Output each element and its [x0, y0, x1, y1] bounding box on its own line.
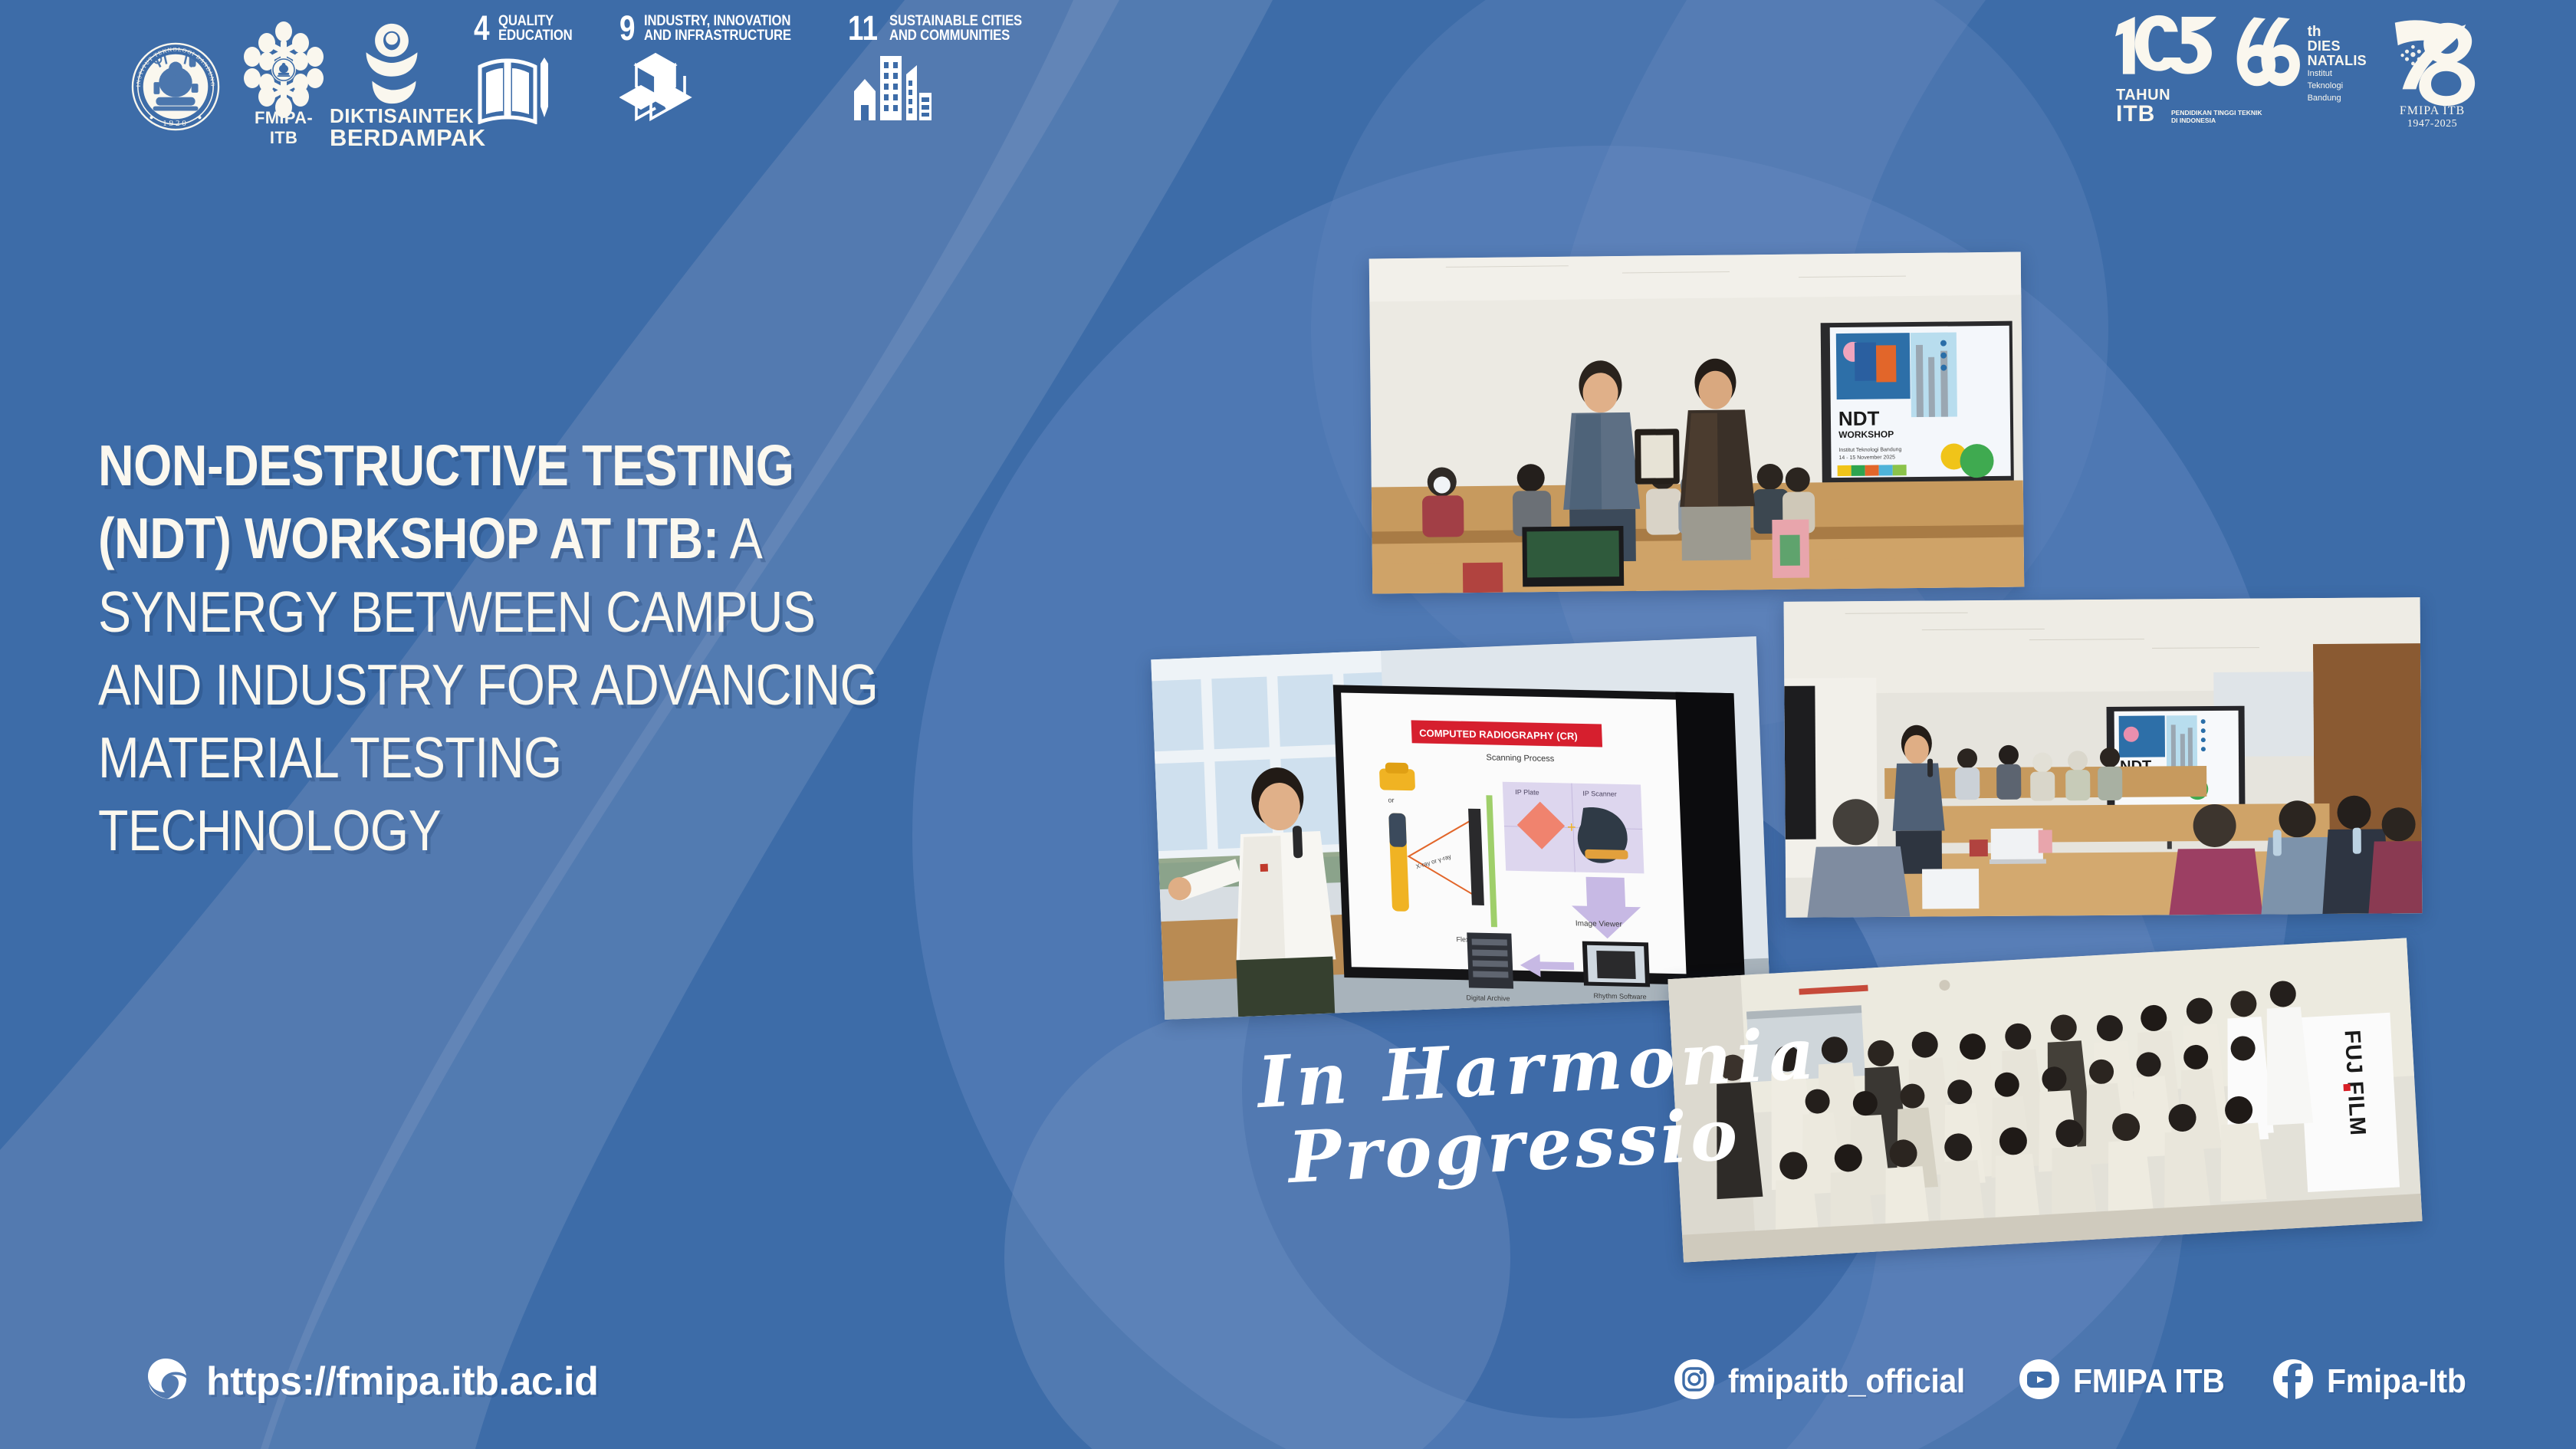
social-facebook[interactable]: Fmipa-Itb: [2272, 1358, 2476, 1405]
youtube-handle: FMIPA ITB: [2073, 1362, 2225, 1401]
105-caption: TAHUN ITB: [2116, 87, 2170, 126]
sdg-11-line2: AND COMMUNITIES: [889, 28, 1022, 43]
svg-text:or: or: [1388, 797, 1394, 804]
sdg-4-number: 4: [474, 14, 490, 43]
66-institute-label: Institut: [2308, 69, 2367, 80]
browser-icon: [142, 1355, 189, 1407]
diktisaintek-line1: DIKTISAINTEK: [330, 106, 465, 126]
svg-text:+: +: [1567, 819, 1577, 836]
photo-plaque-presentation: NDT WORKSHOP Institut Teknologi Bandung …: [1369, 252, 2025, 594]
105-tahun-itb-logo: TAHUN ITB PENDIDIKAN TINGGI TEKNIK DI IN…: [2111, 11, 2219, 126]
title-line-2-bold: (NDT) WORKSHOP AT ITB:: [98, 506, 719, 570]
diktisaintek-line2: BERDAMPAK: [330, 126, 465, 149]
78-fmipa-label: FMIPA ITB: [2380, 104, 2484, 118]
itb-seal-logo: INSTITUT TEKNOLOGI BANDUNG 1920: [130, 25, 221, 148]
diktisaintek-wordmark: DIKTISAINTEK BERDAMPAK: [330, 106, 465, 149]
website-url-label: https://fmipa.itb.ac.id: [206, 1359, 598, 1405]
footer-bar: https://fmipa.itb.ac.id fmipaitb_officia…: [0, 1303, 2576, 1449]
sdg-4-line1: QUALITY: [498, 14, 573, 28]
78-caption: FMIPA ITB 1947-2025: [2380, 104, 2484, 130]
social-instagram[interactable]: fmipaitb_official: [1673, 1358, 1983, 1405]
left-logo-group: INSTITUT TEKNOLOGI BANDUNG 1920: [130, 14, 1040, 148]
sdg-9-number: 9: [619, 14, 636, 43]
sdg-4-line2: EDUCATION: [498, 28, 573, 43]
title-line-2: (NDT) WORKSHOP AT ITB: A: [98, 502, 1061, 575]
header-logo-strip: INSTITUT TEKNOLOGI BANDUNG 1920: [0, 0, 2576, 165]
title-line-4: AND INDUSTRY FOR ADVANCING: [98, 649, 1061, 721]
78-fmipa-itb-logo: FMIPA ITB 1947-2025: [2380, 11, 2484, 133]
66-th-label: th: [2308, 25, 2367, 39]
66-bdg-label: Bandung: [2308, 94, 2367, 104]
motto-in-harmonia-progressio: In Harmonia Progressio: [1257, 1035, 1820, 1178]
svg-text:14 - 15 November 2025: 14 - 15 November 2025: [1838, 455, 1895, 461]
svg-text:WORKSHOP: WORKSHOP: [1838, 429, 1894, 440]
66-dies-caption: th DIES NATALIS Institut Teknologi Bandu…: [2308, 25, 2367, 126]
instagram-icon: [1673, 1358, 1716, 1405]
instagram-handle: fmipaitb_official: [1728, 1362, 1965, 1401]
website-link[interactable]: https://fmipa.itb.ac.id: [142, 1355, 598, 1407]
105-itb-label: ITB: [2116, 103, 2170, 126]
right-logo-group: TAHUN ITB PENDIDIKAN TINGGI TEKNIK DI IN…: [2111, 11, 2484, 133]
title-line-2-thin: A: [719, 506, 763, 570]
photo-classroom-audience: NDT WORKSHOP: [1784, 597, 2423, 918]
facebook-icon: [2272, 1358, 2315, 1405]
svg-text:Rhythm Software: Rhythm Software: [1593, 992, 1646, 1001]
facebook-handle: Fmipa-Itb: [2327, 1362, 2466, 1401]
sdg-4-quality-education: 4 QUALITY EDUCATION: [474, 14, 583, 148]
title-line-1-bold: NON-DESTRUCTIVE TESTING: [98, 433, 793, 498]
title-line-1: NON-DESTRUCTIVE TESTING: [98, 429, 1061, 502]
66-dies-natalis-logo: th DIES NATALIS Institut Teknologi Bandu…: [2233, 11, 2367, 126]
youtube-icon: [2018, 1358, 2061, 1405]
svg-text:Digital Archive: Digital Archive: [1466, 994, 1510, 1002]
66-tek-label: Teknologi: [2308, 81, 2367, 92]
cubes-icon: [619, 51, 811, 126]
diktisaintek-logo: DIKTISAINTEK BERDAMPAK: [347, 19, 446, 148]
title-line-5: MATERIAL TESTING: [98, 721, 1061, 794]
66-natalis-label: NATALIS: [2308, 54, 2367, 67]
sdg-9-industry-innovation: 9 INDUSTRY, INNOVATION AND INFRASTRUCTUR…: [619, 14, 811, 148]
buildings-icon: [848, 51, 1040, 126]
svg-text:Image Viewer: Image Viewer: [1575, 919, 1623, 928]
sdg-9-line1: INDUSTRY, INNOVATION: [644, 14, 791, 28]
social-youtube[interactable]: FMIPA ITB: [2018, 1358, 2236, 1405]
sdg-9-line2: AND INFRASTRUCTURE: [644, 28, 791, 43]
svg-text:IP Plate: IP Plate: [1515, 788, 1539, 797]
66-dies-label: DIES: [2308, 39, 2367, 53]
social-links: fmipaitb_official FMIPA ITB Fmipa-Itb: [1673, 1358, 2476, 1405]
title-line-3: SYNERGY BETWEEN CAMPUS: [98, 576, 1061, 649]
motto-line-2: Progressio: [1286, 1097, 1822, 1192]
sdg-11-line1: SUSTAINABLE CITIES: [889, 14, 1022, 28]
svg-text:IP Scanner: IP Scanner: [1582, 790, 1617, 798]
page-title: NON-DESTRUCTIVE TESTING (NDT) WORKSHOP A…: [98, 429, 1217, 868]
title-line-6: TECHNOLOGY: [98, 794, 1061, 867]
svg-text:NDT: NDT: [1838, 407, 1880, 431]
svg-text:Scanning Process: Scanning Process: [1486, 753, 1555, 764]
svg-text:Institut Teknologi Bandung: Institut Teknologi Bandung: [1838, 447, 1901, 453]
sdg-11-sustainable-cities: 11 SUSTAINABLE CITIES AND COMMUNITIES: [848, 14, 1040, 148]
fmipa-logo-caption: FMIPA-ITB: [241, 108, 327, 148]
78-years-label: 1947-2025: [2380, 118, 2484, 130]
105-tahun-label: TAHUN: [2116, 87, 2170, 103]
book-pencil-icon: [474, 51, 583, 128]
fmipa-itb-logo: FMIPA-ITB: [241, 21, 327, 148]
svg-text:1920: 1920: [163, 119, 188, 128]
photo-speaker-computed-radiography: COMPUTED RADIOGRAPHY (CR) Scanning Proce…: [1151, 636, 1769, 1020]
sdg-11-number: 11: [848, 14, 878, 43]
